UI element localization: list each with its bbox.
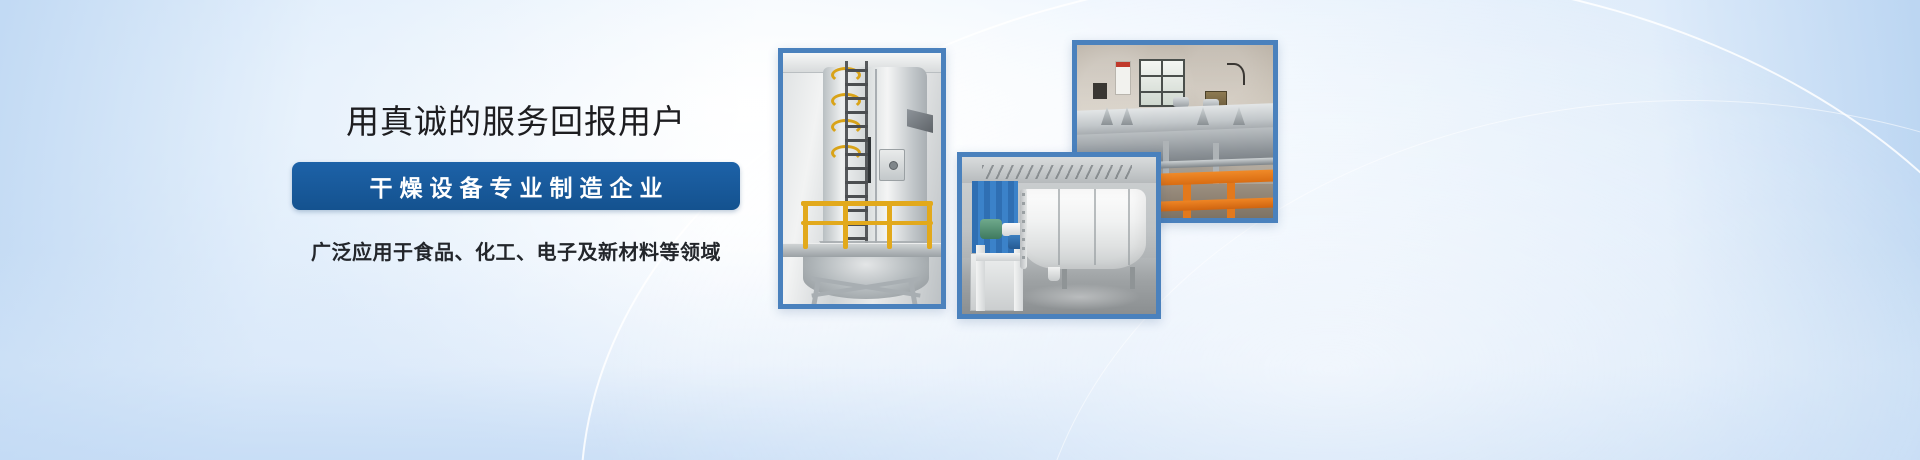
window-mullion [1161,59,1163,107]
wall-fixture [1093,83,1107,99]
banner-badge-label: 干燥设备专业制造企业 [363,169,670,203]
ladder-rung [845,181,868,184]
ladder-rung [845,97,868,100]
ladder-rung [845,111,868,114]
roof-truss [982,165,1132,179]
photo-spray-dryer-tower [778,48,946,309]
banner-subtitle: 广泛应用于食品、化工、电子及新材料等领域 [292,236,740,265]
discharge-pipe [1048,267,1060,281]
handrail-post [887,201,892,249]
ladder-rung [845,125,868,128]
ladder-rung [845,167,868,170]
vessel-rib [1094,189,1096,265]
spray-dryer-scene [783,53,941,304]
notice-header [1116,62,1130,67]
floor-highlight [1020,284,1140,310]
handrail-post [927,201,932,249]
banner-copy-block: 用真诚的服务回报用户 干燥设备专业制造企业 广泛应用于食品、化工、电子及新材料等… [292,104,740,265]
handrail-post [843,201,848,249]
tower-seam [875,69,877,245]
vessel-leg [1130,267,1135,289]
support-crossbeam [976,253,1023,261]
handrail-post [803,201,808,249]
ladder-rung [845,83,868,86]
banner-headline: 用真诚的服务回报用户 [292,104,740,140]
ladder-rung [845,153,868,156]
vessel-leg [1062,269,1067,289]
handrail-mid [801,221,933,225]
ribbon-mixer-scene [962,157,1156,314]
ladder-rung [845,69,868,72]
ladder-rung [845,237,868,240]
photo-ribbon-mixer [957,152,1161,319]
vessel-rib [1058,189,1060,265]
ladder-rung [845,195,868,198]
support-frame [795,279,937,304]
handrail-top [801,201,933,206]
ladder-rung [845,139,868,142]
exhaust-cylinder [1173,97,1189,107]
hero-banner: 用真诚的服务回报用户 干燥设备专业制造企业 广泛应用于食品、化工、电子及新材料等… [0,0,1920,460]
banner-badge: 干燥设备专业制造企业 [292,162,740,210]
flange-bolt-row [1022,193,1025,265]
vessel-rib [1128,189,1130,265]
ladder-rung [845,209,868,212]
hatch-knob [889,161,898,170]
drive-motor [980,219,1002,239]
